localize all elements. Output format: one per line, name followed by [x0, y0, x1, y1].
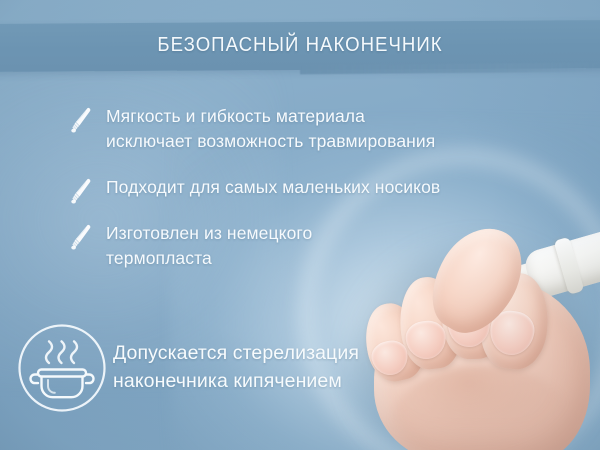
boiling-pot-icon: [16, 322, 108, 414]
page-title: БЕЗОПАСНЫЙ НАКОНЕЧНИК: [21, 33, 579, 57]
feature-text: Подходит для самых маленьких носиков: [106, 175, 536, 200]
nozzle-tip-icon: [70, 224, 94, 250]
feature-text-line: Подходит для самых маленьких носиков: [106, 175, 536, 200]
feature-text: Мягкость и гибкость материала исключает …: [106, 104, 536, 154]
sterilize-text-line: наконечника кипячением: [113, 367, 433, 395]
feature-text-line: исключает возможность травмирования: [106, 129, 536, 154]
sterilize-block: Допускается стерелизация наконечника кип…: [16, 322, 436, 416]
nozzle-tip-icon: [70, 178, 94, 204]
feature-text: Изготовлен из немецкого термопласта: [106, 221, 536, 271]
feature-item: Изготовлен из немецкого термопласта: [66, 221, 536, 271]
product-feature-poster: БЕЗОПАСНЫЙ НАКОНЕЧНИК: [0, 0, 600, 450]
feature-item: Мягкость и гибкость материала исключает …: [66, 104, 536, 154]
feature-item: Подходит для самых маленьких носиков: [66, 175, 536, 200]
sterilize-text: Допускается стерелизация наконечника кип…: [113, 339, 433, 395]
sterilize-text-line: Допускается стерелизация: [113, 339, 433, 367]
feature-text-line: термопласта: [106, 246, 536, 271]
feature-list: Мягкость и гибкость материала исключает …: [66, 104, 536, 292]
feature-text-line: Изготовлен из немецкого: [106, 221, 536, 246]
feature-text-line: Мягкость и гибкость материала: [106, 104, 536, 129]
nozzle-tip-icon: [70, 107, 94, 133]
